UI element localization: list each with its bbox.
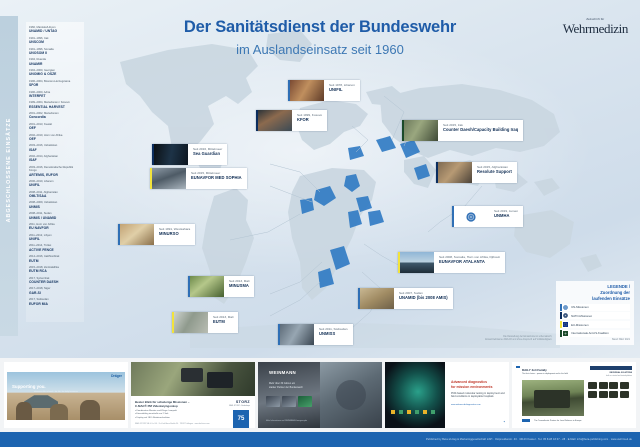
completed-mission-period: 2003–2016, Demokratische Republik Kongo	[29, 166, 81, 173]
vehicle-variant-thumb	[620, 391, 629, 398]
ad-storz-logo-sub: KARL STORZ – Endoskope	[229, 405, 250, 407]
completed-mission-name: Concordia	[29, 115, 81, 119]
mission-callout[interactable]: Seit 2019, JemenUNMHA	[452, 206, 523, 227]
completed-mission-name: UNMIS / UNAMID	[29, 216, 81, 220]
vehicle-variant-thumb	[609, 382, 618, 389]
completed-mission-item: 2014–2016, Irak/NordirakEUTM	[29, 255, 81, 263]
mission-callout[interactable]: Seit 2013, MaliMINUSMA	[188, 276, 254, 297]
completed-mission-name: COUNTER DAESH	[29, 280, 81, 284]
vehicle-variant-thumb	[620, 382, 629, 389]
mission-text: Seit 2015, AfghanistanResolute Support	[472, 162, 517, 183]
legend-label: Internationale Anti-IS-Koalition	[570, 331, 609, 335]
brand-logo: Zeitschrift für Wehrmedizin	[563, 18, 628, 37]
mission-photo	[190, 276, 224, 297]
completed-mission-item: 2017, Syrien/IrakCOUNTER DAESH	[29, 277, 81, 285]
ad-diagnostics[interactable]: Advanced diagnostics for mission environ…	[385, 362, 509, 428]
completed-mission-name: EUTM RCA	[29, 269, 81, 273]
mission-name: UNAMID (bis 2008 AMIS)	[399, 295, 448, 301]
ad-diagnostics-headline-2: for mission environments	[451, 385, 492, 389]
completed-mission-item: 2003–2016, UsbekistanISAF	[29, 144, 81, 152]
completed-mission-item: 2015–2018, ZentralafrikaEUTM RCA	[29, 266, 81, 274]
ad-storz-logo: STORZ	[236, 400, 250, 404]
mission-photo	[360, 288, 394, 309]
un-emblem-icon	[454, 206, 488, 227]
un-emblem-icon	[562, 305, 570, 310]
completed-mission-item: 2017–2018, NigerGAR-SI	[29, 287, 81, 295]
poster-infographic: ABGESCHLOSSENE EINSÄTZE 1960, Marokko/Li…	[0, 0, 640, 447]
mission-callout[interactable]: Seit 1978, LibanonUNIFIL	[288, 80, 360, 101]
mission-name: MINUSMA	[229, 283, 249, 289]
mission-text: Seit 2015, IrakCounter Daesh/Capacity Bu…	[438, 120, 523, 141]
ad-diagnostics-link[interactable]: www.advanced-diagnostics.com	[451, 404, 481, 407]
ad-storz-bullets: ▪ Kombination Monitor und Klinge: kompak…	[135, 410, 177, 420]
mission-callout[interactable]: Seit 2011, SüdsudanUNMISS	[278, 324, 353, 345]
completed-mission-name: OMLT/SAA	[29, 194, 81, 198]
mission-photo	[154, 144, 188, 165]
map-footnote-line-2: Einsatzzeiträume 2021/22 und ohne Anspru…	[432, 339, 552, 342]
vehicle-variant-thumb	[599, 391, 608, 398]
mission-text: Seit 2016, MittelmeerSea Guardian	[188, 144, 227, 165]
mission-text: Seit 2015, MittelmeerEUNAVFOR MED SOPHIA	[186, 168, 247, 189]
ad-storz-headline-2: C-MAC® PM Videolaryngoskop	[135, 404, 178, 408]
mission-callout[interactable]: Seit 2008, Somalia, Horn von Afrika, Dji…	[398, 252, 505, 273]
mission-photo	[290, 80, 324, 101]
completed-mission-item: 1999–2004, Mazedonien / KosovoESSENTIAL …	[29, 101, 81, 109]
mission-text: Seit 2013, MaliEUTM	[208, 312, 238, 333]
mission-photo	[438, 162, 472, 183]
completed-mission-item: 2011–2014, TürkeiACTIVE FENCE	[29, 244, 81, 252]
completed-mission-item: 2008–2011, AfghanistanOMLT/SAA	[29, 191, 81, 199]
ad-weinmann[interactable]: WEINMANN Mehr über 30 Jahren ein starker…	[258, 362, 382, 428]
mission-name: Sea Guardian	[193, 151, 222, 157]
completed-mission-name: EU NAVFOR	[29, 226, 81, 230]
completed-mission-item: 2002–2014, AfghanistanISAF	[29, 155, 81, 163]
sidebar-tab-label: ABGESCHLOSSENE EINSÄTZE	[6, 10, 12, 330]
completed-missions-list: 1960, Marokko/LibyenUNAMID / UNTAG1991–1…	[26, 22, 84, 322]
mission-text: Seit 2008, Somalia, Horn von Afrika, Dji…	[434, 252, 505, 273]
completed-mission-name: ARTEMIS, EUFOR	[29, 173, 81, 177]
completed-mission-item: 1996–2000, AdriaINTERFET	[29, 91, 81, 99]
mission-photo	[174, 312, 208, 333]
mission-text: Seit 2013, MaliMINUSMA	[224, 276, 254, 297]
mission-photo	[120, 224, 154, 245]
ad-draeger-logo: Dräger	[111, 374, 122, 378]
ad-storz[interactable]: Bester Blick für schwierige Missionen – …	[131, 362, 255, 428]
completed-mission-item: 2001–2013, KuwaitOEF	[29, 123, 81, 131]
completed-mission-item: 2002–2010, Horn von AfrikaOEF	[29, 134, 81, 142]
mission-photo	[404, 120, 438, 141]
completed-mission-item: 1996–2004, Bosnien-HerzegowinaSFOR	[29, 80, 81, 88]
completed-mission-name: ESSENTIAL HARVEST	[29, 105, 81, 109]
mission-name: EUNAVFOR MED SOPHIA	[191, 175, 242, 181]
legend-note: Stand: März 2021	[560, 339, 630, 341]
legend-row: NATO-Missionen	[560, 312, 630, 319]
page-title: Der Sanitätsdienst der Bundeswehr	[120, 18, 520, 37]
ad-diagnostics-headline: Advanced diagnostics	[451, 380, 487, 384]
completed-mission-name: UNIFIL	[29, 183, 81, 187]
mission-name: EUNAVFOR ATALANTA	[439, 259, 500, 265]
mission-callout[interactable]: Seit 2015, AfghanistanResolute Support	[436, 162, 517, 183]
completed-mission-item: 1991–1996, IrakUNSCOM	[29, 37, 81, 45]
completed-mission-name: ISAF	[29, 158, 81, 162]
mission-photo	[152, 168, 186, 189]
legend-label: NATO-Missionen	[570, 314, 593, 318]
completed-mission-name: ACTIVE FENCE	[29, 248, 81, 252]
ad-vehicles-grid	[588, 382, 632, 398]
mission-name: MINURSO	[159, 231, 190, 237]
advertisement-strip: Dräger Supporting you. wherever life is …	[0, 358, 640, 432]
ad-vehicles-catalog-title: INDIVIDUAL SOLUTIONS	[610, 372, 632, 374]
completed-mission-item: 2003–2016, Demokratische Republik KongoA…	[29, 166, 81, 177]
completed-mission-name: UNOSOM II	[29, 51, 81, 55]
mission-callout[interactable]: Seit 2007, SudanUNAMID (bis 2008 AMIS)	[358, 288, 453, 309]
mission-name: EUTM	[213, 319, 233, 325]
ad-weinmann-footnote: Mehr Informationen auf WEINMANN-Emergenc…	[266, 420, 307, 422]
page-subtitle: im Auslandseinsatz seit 1960	[120, 42, 520, 57]
headline-block: Der Sanitätsdienst der Bundeswehr im Aus…	[120, 18, 520, 57]
footer-imprint: Published by Beta-Verlag & Marketinggese…	[426, 438, 632, 441]
mission-callout[interactable]: Seit 2015, MittelmeerEUNAVFOR MED SOPHIA	[150, 168, 247, 189]
mission-name: KFOR	[297, 117, 322, 123]
legend-rows: UN-MissionenNATO-MissionenEU-MissionenIn…	[560, 304, 630, 337]
vehicle-variant-thumb	[588, 391, 597, 398]
ad-vehicles-subline: The first choice – proven in deployment …	[522, 373, 580, 375]
legend-title-line-3: laufenden Einsätze	[560, 296, 630, 302]
ad-diagnostics-logo: ◈	[503, 421, 505, 424]
ad-draeger[interactable]: Dräger Supporting you. wherever life is …	[4, 362, 128, 428]
legend-label: UN-Missionen	[570, 305, 589, 309]
ad-storz-badge-number: 75	[238, 416, 245, 422]
ad-weinmann-logo: WEINMANN	[269, 370, 296, 375]
legend-row: Internationale Anti-IS-Koalition	[560, 330, 630, 337]
completed-mission-name: SFOR	[29, 83, 81, 87]
completed-mission-name: OEF	[29, 126, 81, 130]
ad-storz-footnote: KARL STORZ SE & Co. KG · Dr.-Karl-Storz-…	[135, 423, 210, 425]
mission-name: UNMISS	[319, 331, 348, 337]
ad-diagnostics-subline: PCR-based molecular testing in deploymen…	[451, 392, 505, 399]
mission-text: Seit 2011, SüdsudanUNMISS	[314, 324, 353, 345]
ad-vehicles[interactable]: DAILY 4x4 Family The first choice – prov…	[512, 362, 636, 428]
mission-callout[interactable]: Seit 2013, MaliEUTM	[172, 312, 238, 333]
vehicle-variant-thumb	[609, 391, 618, 398]
completed-mission-item: 2017, SüdsudanEUFOR MIA	[29, 298, 81, 306]
completed-mission-item: 2008–2009, UsbekistanUNMIS	[29, 201, 81, 209]
mission-photo	[400, 252, 434, 273]
vehicle-variant-thumb	[588, 382, 597, 389]
mission-name: UNIFIL	[329, 87, 355, 93]
mission-text: Seit 1991, WestsaharaMINURSO	[154, 224, 195, 245]
ad-vehicles-catalog-sub: built on a tested and trusted platform	[606, 376, 632, 378]
completed-mission-item: 2001–2002, MazedonienConcordia	[29, 112, 81, 120]
completed-mission-item: 1991–1996, SomaliaUNOSOM II	[29, 48, 81, 56]
completed-mission-name: UNAMID / UNTAG	[29, 29, 81, 33]
completed-mission-item: 1994–2000, GeorgienUNOMIG & OSZE	[29, 69, 81, 77]
ad-weinmann-headline-2: starker Partner der Bundeswehr	[269, 386, 303, 389]
ad-vehicles-product: DAILY 4x4 Family	[522, 368, 547, 372]
completed-mission-name: UNMIS	[29, 205, 81, 209]
mission-callout[interactable]: Seit 1999, KosovoKFOR	[256, 110, 327, 131]
completed-mission-name: UNSCOM	[29, 40, 81, 44]
ad-vehicles-strapline: The Transatlantic Partner for Land Defen…	[534, 420, 581, 423]
ad-draeger-subline: wherever life is hard – for life, for da…	[34, 391, 78, 394]
completed-mission-item: 2008–2011, SudanUNMIS / UNAMID	[29, 212, 81, 220]
mission-text: Seit 1999, KosovoKFOR	[292, 110, 327, 131]
mission-photo	[280, 324, 314, 345]
ad-storz-anniversary-badge: 75	[233, 410, 249, 428]
legend-title: LEGENDE / Zuordnung der laufenden Einsät…	[560, 284, 630, 302]
completed-mission-item: 1960, Marokko/LibyenUNAMID / UNTAG	[29, 26, 81, 34]
completed-mission-item: 2011–2012, LibyenUNIFIL	[29, 234, 81, 242]
ad-storz-bullet: ▪ Display mit 180°-Rotationsfunktion	[135, 417, 177, 420]
coalition-icon	[562, 331, 570, 336]
world-map-panel: ABGESCHLOSSENE EINSÄTZE 1960, Marokko/Li…	[0, 0, 640, 358]
mission-name: Counter Daesh/Capacity Building Iraq	[443, 127, 518, 133]
completed-mission-name: UNIFIL	[29, 237, 81, 241]
mission-text: Seit 2007, SudanUNAMID (bis 2008 AMIS)	[394, 288, 453, 309]
mission-photo	[258, 110, 292, 131]
map-footnote: Die Darstellung der Einsatzorte ist sche…	[432, 336, 552, 342]
mission-callout[interactable]: Seit 2016, MittelmeerSea Guardian	[152, 144, 227, 165]
completed-mission-name: UNOMIG & OSZE	[29, 72, 81, 76]
mission-callout[interactable]: Seit 1991, WestsaharaMINURSO	[118, 224, 195, 245]
mission-name: Resolute Support	[477, 169, 512, 175]
mission-callout[interactable]: Seit 2015, IrakCounter Daesh/Capacity Bu…	[402, 120, 523, 141]
ad-draeger-headline: Supporting you.	[12, 384, 46, 389]
mission-text: Seit 1978, LibanonUNIFIL	[324, 80, 360, 101]
completed-mission-name: GAR-SI	[29, 291, 81, 295]
vehicle-variant-thumb	[599, 382, 608, 389]
legend-row: UN-Missionen	[560, 304, 630, 311]
ad-weinmann-headline: Mehr über 30 Jahren ein	[269, 382, 295, 385]
completed-mission-item: 2006–2010, LibanonUNIFIL	[29, 180, 81, 188]
legend-row: EU-Missionen	[560, 321, 630, 328]
completed-mission-item: 1994, RuandaUNAMIR	[29, 58, 81, 66]
completed-mission-name: EUFOR MIA	[29, 302, 81, 306]
completed-mission-name: ISAF	[29, 148, 81, 152]
footer-bar: Published by Beta-Verlag & Marketinggese…	[0, 432, 640, 447]
mission-name: UNMHA	[494, 213, 518, 219]
legend-panel: LEGENDE / Zuordnung der laufenden Einsät…	[556, 281, 634, 345]
mission-text: Seit 2019, JemenUNMHA	[488, 206, 523, 227]
completed-mission-item: 2011, Horn von AfrikaEU NAVFOR	[29, 223, 81, 231]
completed-mission-name: OEF	[29, 137, 81, 141]
sidebar-tab: ABGESCHLOSSENE EINSÄTZE	[0, 16, 18, 336]
eu-flag-icon	[562, 322, 570, 327]
legend-label: EU-Missionen	[570, 323, 589, 327]
completed-mission-name: UNAMIR	[29, 62, 81, 66]
completed-mission-name: INTERFET	[29, 94, 81, 98]
completed-mission-name: EUTM	[29, 259, 81, 263]
nato-star-icon	[562, 313, 570, 318]
brand-name: Wehrmedizin	[563, 21, 628, 37]
